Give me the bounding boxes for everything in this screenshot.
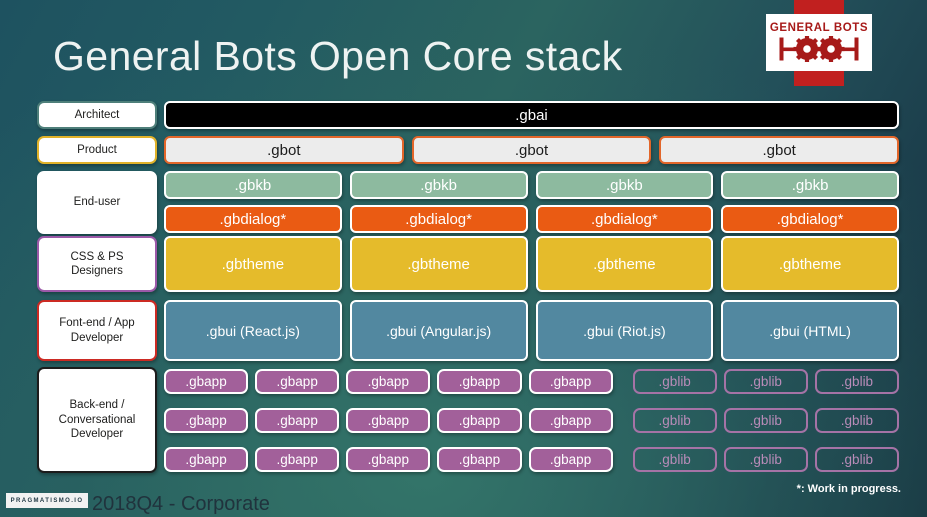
cell-gblib-r1c3-label: .gblib	[841, 374, 873, 389]
cell-gblib-r1c1[interactable]: .gblib	[633, 369, 717, 394]
cell-gbot-3-label: .gbot	[762, 142, 795, 159]
backend-grid-row-3: .gbapp .gbapp .gbapp .gbapp .gbapp .gbli…	[164, 447, 899, 472]
cell-gblib-r1c2[interactable]: .gblib	[724, 369, 808, 394]
pragmatismo-logo: PRAGMATISMO.IO	[6, 493, 88, 508]
cell-gbapp-r2c1[interactable]: .gbapp	[164, 408, 248, 433]
cell-gbapp-r1c4-label: .gbapp	[459, 374, 500, 389]
gears-icon	[777, 36, 861, 62]
cell-gbui-riot-label: .gbui (Riot.js)	[583, 323, 665, 339]
cell-gbapp-r2c3[interactable]: .gbapp	[346, 408, 430, 433]
cell-gbapp-r3c4[interactable]: .gbapp	[437, 447, 521, 472]
cell-gbapp-r2c5-label: .gbapp	[550, 413, 591, 428]
cell-gbapp-r2c3-label: .gbapp	[368, 413, 409, 428]
cell-gbkb-4[interactable]: .gbkb	[721, 171, 899, 199]
cell-gbdialog-4[interactable]: .gbdialog*	[721, 205, 899, 233]
cell-gbkb-3[interactable]: .gbkb	[536, 171, 714, 199]
cell-gbtheme-3-label: .gbtheme	[593, 256, 656, 273]
cell-gblib-r2c1[interactable]: .gblib	[633, 408, 717, 433]
cell-gbui-react[interactable]: .gbui (React.js)	[164, 300, 342, 361]
role-label-backend-line3: Developer	[71, 427, 123, 441]
cell-gbapp-r1c2-label: .gbapp	[277, 374, 318, 389]
cell-gbdialog-2[interactable]: .gbdialog*	[350, 205, 528, 233]
role-label-css-ps-designers: CSS & PS Designers	[37, 236, 157, 292]
cell-gbapp-r3c4-label: .gbapp	[459, 452, 500, 467]
cell-gblib-r3c3-label: .gblib	[841, 452, 873, 467]
cell-gblib-r2c3-label: .gblib	[841, 413, 873, 428]
role-label-architect-text: Architect	[75, 108, 120, 122]
cell-gbapp-r3c1[interactable]: .gbapp	[164, 447, 248, 472]
cell-gbdialog-3[interactable]: .gbdialog*	[536, 205, 714, 233]
cell-gbapp-r3c5-label: .gbapp	[550, 452, 591, 467]
cell-gblib-r3c2[interactable]: .gblib	[724, 447, 808, 472]
cell-gbot-1[interactable]: .gbot	[164, 136, 404, 164]
cell-gbui-react-label: .gbui (React.js)	[206, 323, 300, 339]
page-title: General Bots Open Core stack	[53, 33, 623, 80]
cell-gbui-html[interactable]: .gbui (HTML)	[721, 300, 899, 361]
cell-gblib-r1c3[interactable]: .gblib	[815, 369, 899, 394]
cell-gbdialog-1-label: .gbdialog*	[220, 211, 287, 228]
cell-gbtheme-2[interactable]: .gbtheme	[350, 236, 528, 292]
grid-gap-1	[620, 369, 626, 394]
cell-gbtheme-1-label: .gbtheme	[222, 256, 285, 273]
cell-gbtheme-3[interactable]: .gbtheme	[536, 236, 714, 292]
cell-gbapp-r1c5[interactable]: .gbapp	[529, 369, 613, 394]
role-label-css-ps-designers-line2: Designers	[71, 264, 123, 278]
role-label-product: Product	[37, 136, 157, 164]
cell-gbui-angular-label: .gbui (Angular.js)	[386, 323, 491, 339]
cell-gbui-html-label: .gbui (HTML)	[769, 323, 851, 339]
gbot-cells: .gbot .gbot .gbot	[164, 136, 899, 164]
cell-gbapp-r1c3-label: .gbapp	[368, 374, 409, 389]
cell-gblib-r3c2-label: .gblib	[750, 452, 782, 467]
cell-gbtheme-2-label: .gbtheme	[407, 256, 470, 273]
cell-gbapp-r2c2[interactable]: .gbapp	[255, 408, 339, 433]
backend-grid-row-1: .gbapp .gbapp .gbapp .gbapp .gbapp .gbli…	[164, 369, 899, 394]
general-bots-logo: GENERAL BOTS	[766, 14, 872, 71]
cell-gbapp-r2c2-label: .gbapp	[277, 413, 318, 428]
cell-gbai-label: .gbai	[515, 107, 548, 124]
grid-gap-3	[620, 447, 626, 472]
gbdialog-cells: .gbdialog* .gbdialog* .gbdialog* .gbdial…	[164, 205, 899, 233]
gbkb-cells: .gbkb .gbkb .gbkb .gbkb	[164, 171, 899, 199]
cell-gbui-riot[interactable]: .gbui (Riot.js)	[536, 300, 714, 361]
cell-gbdialog-4-label: .gbdialog*	[777, 211, 844, 228]
grid-gap-2	[620, 408, 626, 433]
role-label-frontend-line2: Developer	[71, 331, 123, 345]
backend-grid-row-2: .gbapp .gbapp .gbapp .gbapp .gbapp .gbli…	[164, 408, 899, 433]
cell-gblib-r3c3[interactable]: .gblib	[815, 447, 899, 472]
slide-canvas: GENERAL BOTS	[0, 0, 927, 517]
cell-gbapp-r1c1[interactable]: .gbapp	[164, 369, 248, 394]
cell-gbtheme-4[interactable]: .gbtheme	[721, 236, 899, 292]
cell-gbkb-3-label: .gbkb	[606, 177, 643, 194]
general-bots-logo-text: GENERAL BOTS	[770, 23, 868, 35]
gbai-cells: .gbai	[164, 101, 899, 129]
cell-gbdialog-3-label: .gbdialog*	[591, 211, 658, 228]
cell-gbapp-r3c2[interactable]: .gbapp	[255, 447, 339, 472]
cell-gbdialog-1[interactable]: .gbdialog*	[164, 205, 342, 233]
gbui-cells: .gbui (React.js) .gbui (Angular.js) .gbu…	[164, 300, 899, 361]
cell-gbot-3[interactable]: .gbot	[659, 136, 899, 164]
cell-gbot-2[interactable]: .gbot	[412, 136, 652, 164]
cell-gbapp-r1c4[interactable]: .gbapp	[437, 369, 521, 394]
cell-gblib-r2c3[interactable]: .gblib	[815, 408, 899, 433]
cell-gbkb-1-label: .gbkb	[235, 177, 272, 194]
cell-gblib-r1c1-label: .gblib	[659, 374, 691, 389]
role-label-backend-line1: Back-end /	[70, 398, 125, 412]
cell-gbapp-r2c1-label: .gbapp	[185, 413, 226, 428]
role-label-product-text: Product	[77, 143, 117, 157]
role-label-css-ps-designers-line1: CSS & PS	[70, 250, 123, 264]
cell-gbtheme-1[interactable]: .gbtheme	[164, 236, 342, 292]
cell-gbkb-4-label: .gbkb	[792, 177, 829, 194]
cell-gblib-r3c1[interactable]: .gblib	[633, 447, 717, 472]
role-label-backend-conversational-developer: Back-end / Conversational Developer	[37, 367, 157, 473]
cell-gbapp-r2c4[interactable]: .gbapp	[437, 408, 521, 433]
cell-gblib-r1c2-label: .gblib	[750, 374, 782, 389]
cell-gblib-r2c2[interactable]: .gblib	[724, 408, 808, 433]
cell-gbapp-r3c5[interactable]: .gbapp	[529, 447, 613, 472]
cell-gbui-angular[interactable]: .gbui (Angular.js)	[350, 300, 528, 361]
role-label-architect: Architect	[37, 101, 157, 129]
cell-gblib-r3c1-label: .gblib	[659, 452, 691, 467]
cell-gbapp-r2c4-label: .gbapp	[459, 413, 500, 428]
cell-gbapp-r1c2[interactable]: .gbapp	[255, 369, 339, 394]
cell-gbapp-r3c3-label: .gbapp	[368, 452, 409, 467]
role-label-end-user: End-user	[37, 171, 157, 234]
cell-gbot-2-label: .gbot	[515, 142, 548, 159]
stack-diagram: Architect .gbai Product .gbot .gbot	[37, 101, 899, 475]
cell-gblib-r2c1-label: .gblib	[659, 413, 691, 428]
cell-gbapp-r1c5-label: .gbapp	[550, 374, 591, 389]
cell-gbai[interactable]: .gbai	[164, 101, 899, 129]
cell-gbapp-r2c5[interactable]: .gbapp	[529, 408, 613, 433]
role-label-frontend-app-developer: Font-end / App Developer	[37, 300, 157, 361]
gbtheme-cells: .gbtheme .gbtheme .gbtheme .gbtheme	[164, 236, 899, 292]
cell-gbkb-1[interactable]: .gbkb	[164, 171, 342, 199]
footer-label: 2018Q4 - Corporate	[92, 493, 270, 516]
role-label-end-user-text: End-user	[74, 195, 121, 209]
cell-gblib-r2c2-label: .gblib	[750, 413, 782, 428]
cell-gbapp-r3c1-label: .gbapp	[185, 452, 226, 467]
slide-footer: PRAGMATISMO.IO 2018Q4 - Corporate	[0, 481, 927, 517]
role-label-frontend-line1: Font-end / App	[59, 316, 134, 330]
cell-gbapp-r1c3[interactable]: .gbapp	[346, 369, 430, 394]
role-label-backend-line2: Conversational	[59, 413, 136, 427]
cell-gbot-1-label: .gbot	[267, 142, 300, 159]
cell-gbapp-r3c3[interactable]: .gbapp	[346, 447, 430, 472]
cell-gbapp-r3c2-label: .gbapp	[277, 452, 318, 467]
cell-gbkb-2[interactable]: .gbkb	[350, 171, 528, 199]
cell-gbdialog-2-label: .gbdialog*	[405, 211, 472, 228]
cell-gbapp-r1c1-label: .gbapp	[185, 374, 226, 389]
cell-gbtheme-4-label: .gbtheme	[779, 256, 842, 273]
cell-gbkb-2-label: .gbkb	[420, 177, 457, 194]
